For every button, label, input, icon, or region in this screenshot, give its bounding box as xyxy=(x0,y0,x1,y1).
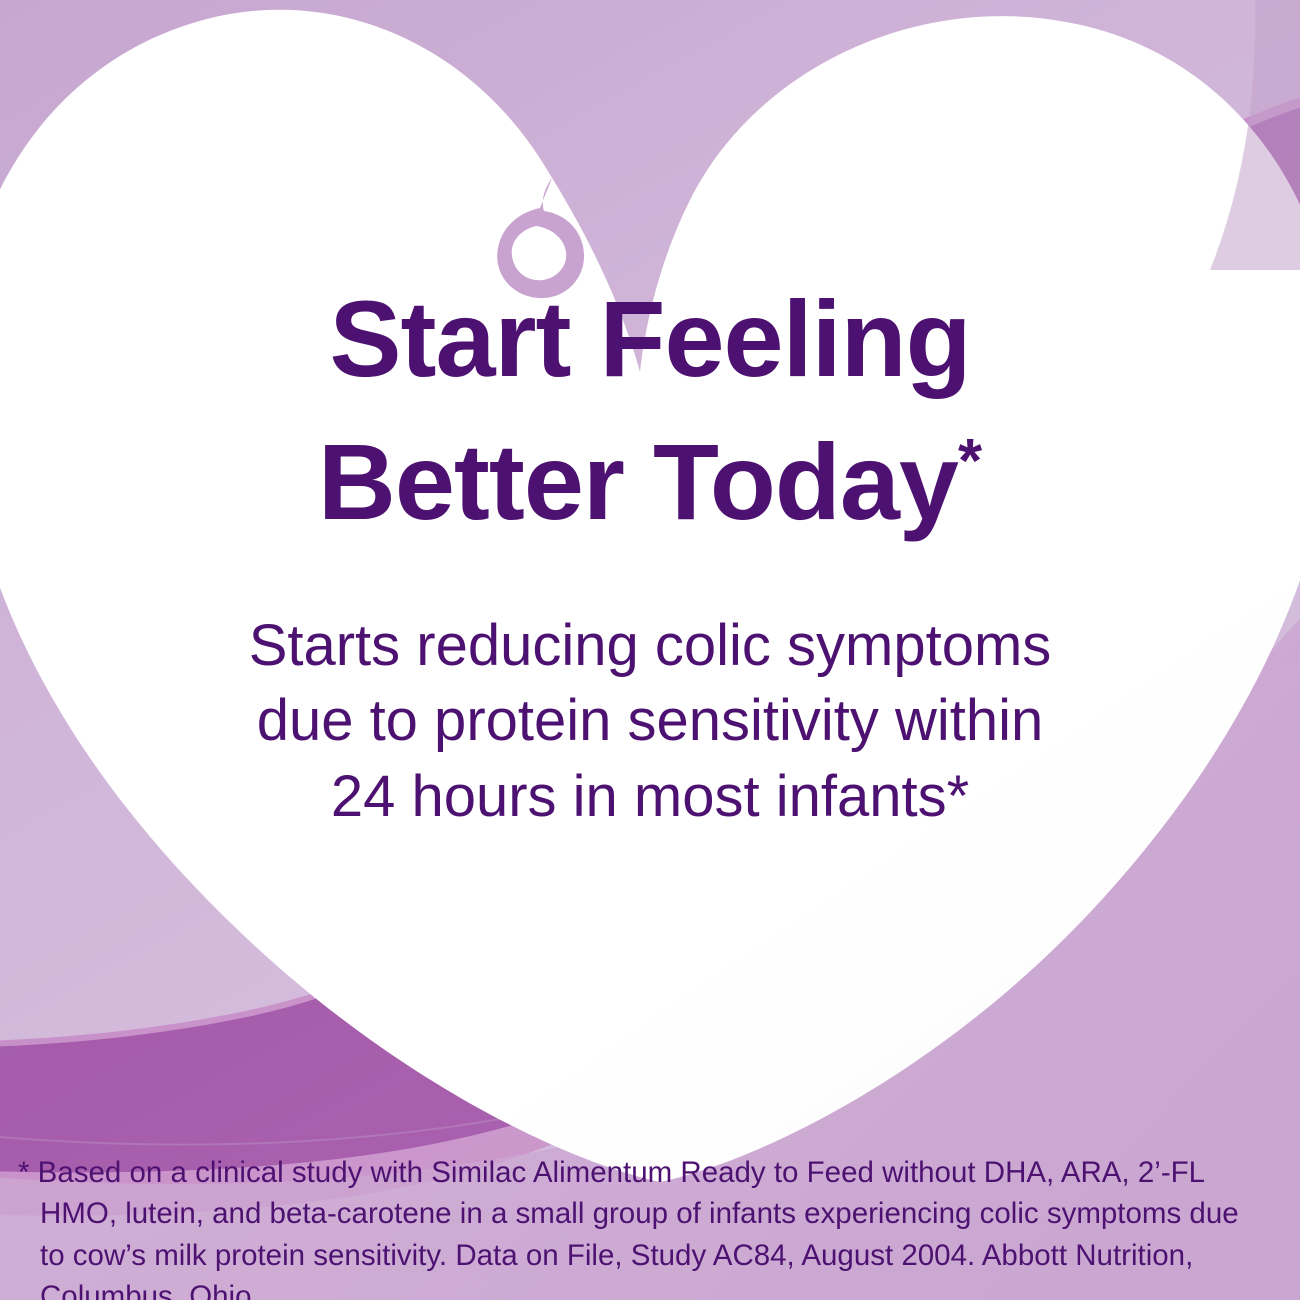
background-artwork xyxy=(0,0,1300,1300)
promo-card: Start Feeling Better Today* Starts reduc… xyxy=(0,0,1300,1300)
